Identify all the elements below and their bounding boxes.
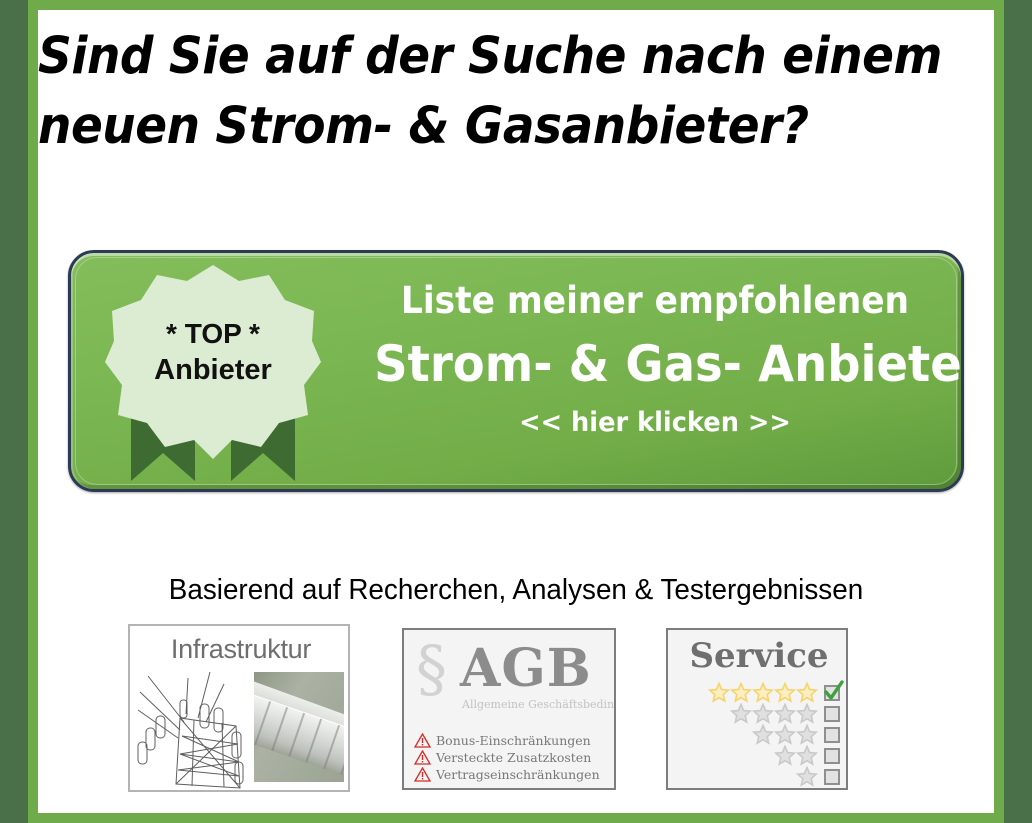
- star-icon: [796, 703, 818, 724]
- star-icon: [796, 745, 818, 766]
- page-title: Sind Sie auf der Suche nach einem neuen …: [38, 22, 908, 162]
- card-agb-subtitle: Allgemeine Geschäftsbedingungen: [462, 698, 612, 711]
- service-checkbox[interactable]: [824, 727, 840, 743]
- agb-header: § AGB Allgemeine Geschäftsbedingungen: [404, 636, 614, 722]
- star-icon: [730, 682, 752, 703]
- check-icon: [823, 680, 845, 702]
- headline-line-1: Sind Sie auf der Suche nach einem: [38, 27, 942, 86]
- star-icon: [796, 682, 818, 703]
- star-icon: [774, 745, 796, 766]
- service-rating-row: [680, 766, 840, 787]
- service-rating-row: [680, 682, 840, 703]
- star-icon: [730, 703, 752, 724]
- star-icon: [752, 682, 774, 703]
- list-item: Bonus-Einschränkungen: [414, 732, 614, 749]
- agb-warning-label: Bonus-Einschränkungen: [436, 733, 591, 748]
- trust-cards: Infrastruktur: [38, 624, 994, 794]
- service-checkbox[interactable]: [824, 685, 840, 701]
- card-service-title: Service: [668, 636, 848, 676]
- star-icon: [774, 724, 796, 745]
- service-rating-row: [680, 724, 840, 745]
- service-rating-row: [680, 745, 840, 766]
- star-icon: [752, 724, 774, 745]
- badge-line-1: * TOP *: [97, 315, 329, 352]
- service-checkbox[interactable]: [824, 769, 840, 785]
- warning-triangle-icon: [414, 750, 431, 765]
- star-icon: [774, 703, 796, 724]
- list-item: Versteckte Zusatzkosten: [414, 749, 614, 766]
- star-group: [690, 703, 818, 724]
- star-icon: [796, 724, 818, 745]
- star-group: [690, 724, 818, 745]
- list-item: Vertragseinschränkungen: [414, 766, 614, 783]
- warning-triangle-icon: [414, 767, 431, 782]
- agb-warning-label: Versteckte Zusatzkosten: [436, 750, 591, 765]
- cta-text-block: Liste meiner empfohlenen Strom- & Gas- A…: [353, 275, 957, 443]
- subheading: Basierend auf Recherchen, Analysen & Tes…: [57, 574, 975, 607]
- ad-banner: Sind Sie auf der Suche nach einem neuen …: [0, 0, 1032, 823]
- star-group: [690, 766, 818, 787]
- star-icon: [774, 682, 796, 703]
- star-icon: [708, 682, 730, 703]
- service-rating-grid: [680, 682, 840, 787]
- service-rating-row: [680, 703, 840, 724]
- card-service: Service: [666, 628, 848, 790]
- agb-warning-label: Vertragseinschränkungen: [436, 767, 600, 782]
- power-pylon-icon: [136, 670, 258, 790]
- card-infrastruktur-title: Infrastruktur: [130, 634, 350, 665]
- star-icon: [796, 766, 818, 787]
- service-checkbox[interactable]: [824, 706, 840, 722]
- service-checkbox[interactable]: [824, 748, 840, 764]
- pipeline-photo: [254, 672, 344, 782]
- warning-triangle-icon: [414, 733, 431, 748]
- card-infrastruktur: Infrastruktur: [128, 624, 350, 792]
- star-group: [690, 745, 818, 766]
- top-anbieter-badge: * TOP * Anbieter: [97, 263, 329, 487]
- star-group: [690, 682, 818, 703]
- badge-text: * TOP * Anbieter: [97, 315, 329, 389]
- star-icon: [752, 703, 774, 724]
- cta-button[interactable]: * TOP * Anbieter Liste meiner empfohlene…: [68, 250, 964, 492]
- badge-line-2: Anbieter: [97, 352, 329, 389]
- cta-line-1: Liste meiner empfohlenen: [374, 275, 936, 327]
- paragraph-symbol-icon: §: [416, 638, 447, 700]
- cta-line-3: << hier klicken >>: [368, 403, 942, 443]
- headline-line-2: neuen Strom- & Gasanbieter?: [38, 92, 908, 162]
- cta-line-2: Strom- & Gas- Anbieter: [374, 331, 936, 397]
- agb-warning-list: Bonus-Einschränkungen Versteckte Zusatzk…: [414, 732, 614, 783]
- card-agb-title: AGB: [460, 642, 592, 696]
- card-agb: § AGB Allgemeine Geschäftsbedingungen Bo…: [402, 628, 616, 790]
